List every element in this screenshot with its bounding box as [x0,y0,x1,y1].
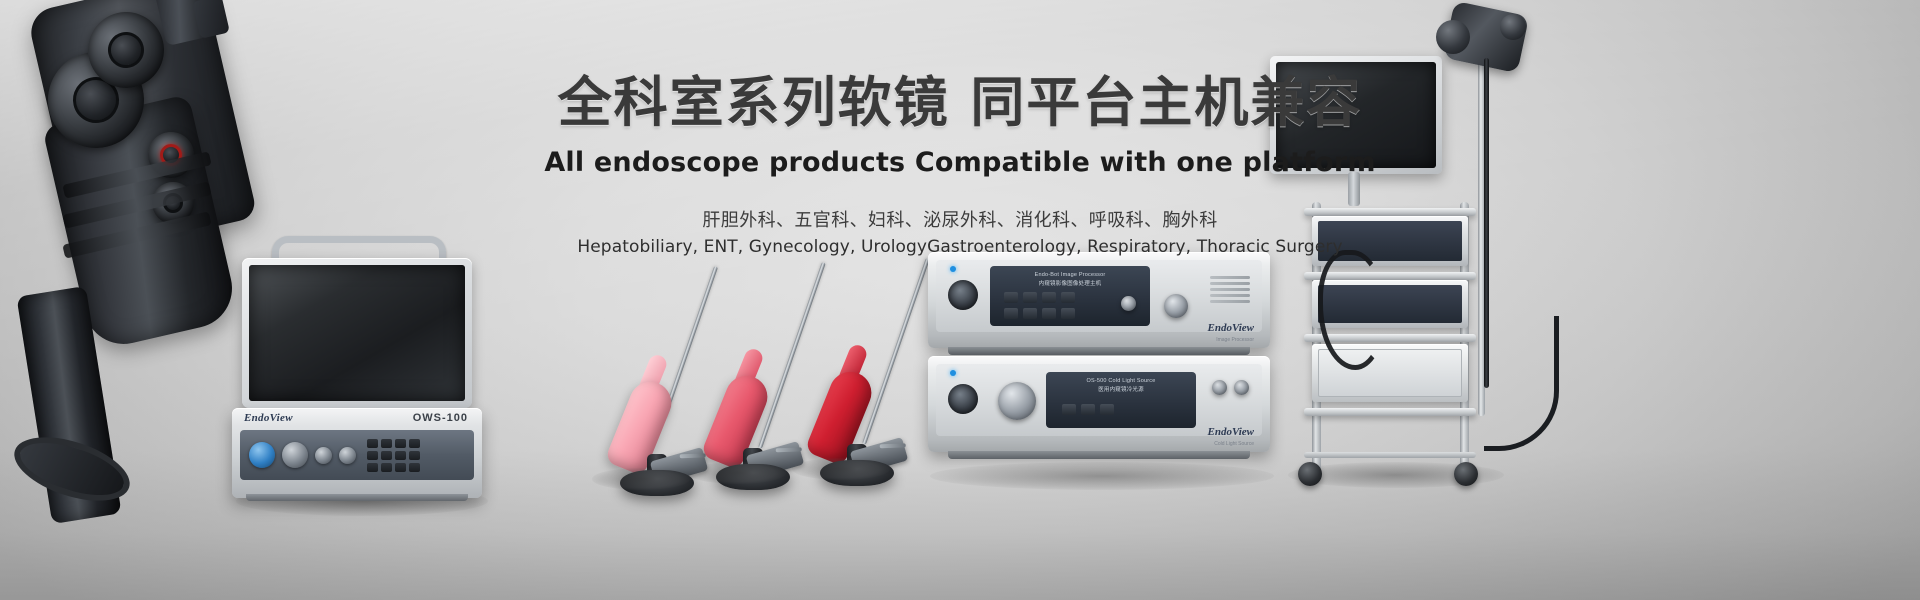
ows-small-dial-icon [339,447,356,464]
image-processor-unit: Endo-Bot Image Processor 内窥镜影像图像处理主机 End… [928,252,1270,348]
image-processor-button-row [1004,292,1075,303]
image-processor-knob-icon [1121,296,1136,311]
image-processor-sub-label: Image Processor [1216,337,1254,343]
ows-small-dial-icon [315,447,332,464]
processor-stack-shadow [930,462,1274,490]
ows-power-dial-icon [249,442,275,468]
ows-display-screen [249,265,465,401]
cart-caster-wheel-icon [1298,462,1322,486]
cold-light-brand-label: EndoView [1208,426,1254,438]
product-banner: EndoView OWS-100 [0,0,1920,600]
image-processor-panel-subtitle: 内窥镜影像图像处理主机 [990,280,1150,288]
hanging-scope-tube-curve [1484,316,1559,451]
light-guide-port-icon [948,384,978,414]
processor-feet [948,451,1250,459]
ows-base-feet [246,494,468,501]
banner-text-block: 全科室系列软镜 同平台主机兼容 All endoscope products C… [0,0,1920,257]
cold-light-panel-subtitle: 医用内窥镜冷光源 [1046,386,1196,394]
cold-light-source-unit: OS-500 Cold Light Source 医用内窥镜冷光源 EndoVi… [928,356,1270,452]
cold-light-small-knob-icon [1212,380,1227,395]
ows-model-label: OWS-100 [413,412,468,424]
ows-monitor-bezel [242,258,472,408]
ows-control-panel [240,430,474,480]
image-processor-panel-title: Endo-Bot Image Processor [990,271,1150,279]
image-processor-brand-label: EndoView [1208,322,1254,334]
laparoscopic-instrument-red [790,248,940,498]
instrument-stand-base [820,460,894,486]
banner-headline-chinese: 全科室系列软镜 同平台主机兼容 [0,0,1920,137]
cold-light-button-row [1062,404,1114,415]
instrument-rod [862,258,930,445]
status-led-icon [950,266,956,272]
cold-light-sub-label: Cold Light Source [1214,441,1254,447]
ows-brand-label: EndoView [244,412,293,424]
cold-light-source-display-panel: OS-500 Cold Light Source 医用内窥镜冷光源 [1046,372,1196,428]
ows-monitor-unit-image: EndoView OWS-100 [232,236,482,498]
ows-base-body: EndoView OWS-100 [232,408,482,498]
ows-main-dial-icon [282,442,308,468]
processor-stack-image: Endo-Bot Image Processor 内窥镜影像图像处理主机 End… [928,252,1270,464]
cart-caster-wheel-icon [1454,462,1478,486]
ows-keypad-icon [367,439,420,472]
status-led-icon [950,370,956,376]
image-processor-display-panel: Endo-Bot Image Processor 内窥镜影像图像处理主机 [990,266,1150,326]
instrument-stand-base [716,464,790,490]
processor-feet [948,347,1250,355]
banner-subheadline-english: All endoscope products Compatible with o… [0,147,1920,178]
scope-connector-port-icon [948,280,978,310]
cart-crossbar [1304,452,1476,458]
instrument-stand-base [620,470,694,496]
brightness-knob-icon [998,382,1036,420]
processor-vent-slots [1210,276,1250,303]
image-processor-button-row [1004,308,1075,319]
banner-specialties-english: Hepatobiliary, ENT, Gynecology, UrologyG… [0,237,1920,257]
cold-light-panel-title: OS-500 Cold Light Source [1046,377,1196,385]
banner-specialties-chinese: 肝胆外科、五官科、妇科、泌尿外科、消化科、呼吸科、胸外科 [0,206,1920,232]
cold-light-small-knob-icon [1234,380,1249,395]
image-processor-main-knob-icon [1164,294,1188,318]
